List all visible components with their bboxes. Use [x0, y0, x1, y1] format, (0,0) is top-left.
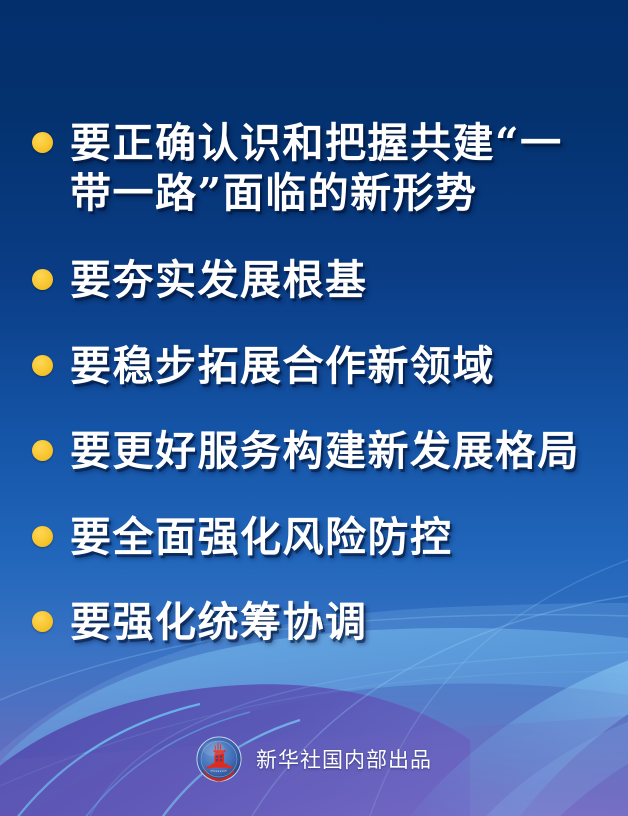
bullet-item-1: 要正确认识和把握共建“一 带一路”面临的新形势 — [32, 118, 563, 218]
bullet-item-4: 要更好服务构建新发展格局 — [32, 426, 580, 476]
bullet-dot-icon — [32, 355, 53, 376]
decor-swoop-left — [0, 628, 628, 816]
bullet-text-5: 要全面强化风险防控 — [70, 512, 453, 562]
bullet-item-5: 要全面强化风险防控 — [32, 512, 453, 562]
bullet-dot-icon — [32, 611, 53, 632]
poster-canvas: 要正确认识和把握共建“一 带一路”面临的新形势 要夯实发展根基 要稳步拓展合作新… — [0, 0, 628, 816]
footer: 新华社国内部出品 — [0, 736, 628, 782]
bullet-text-4: 要更好服务构建新发展格局 — [70, 426, 580, 476]
bullet-text-3: 要稳步拓展合作新领域 — [70, 341, 495, 391]
bullet-dot-icon — [32, 440, 53, 461]
bullet-item-6: 要强化统筹协调 — [32, 597, 368, 647]
bullet-item-3: 要稳步拓展合作新领域 — [32, 341, 495, 391]
bullet-text-6: 要强化统筹协调 — [70, 597, 368, 647]
bullet-text-1: 要正确认识和把握共建“一 带一路”面临的新形势 — [70, 118, 563, 218]
bullet-dot-icon — [32, 269, 53, 290]
bullet-dot-icon — [32, 132, 53, 153]
bullet-text-2: 要夯实发展根基 — [70, 255, 368, 305]
decor-arc-4 — [90, 652, 628, 816]
xinhua-news-agency-logo-icon — [196, 736, 242, 782]
footer-label: 新华社国内部出品 — [256, 744, 432, 774]
bullet-dot-icon — [32, 526, 53, 547]
bullet-item-2: 要夯实发展根基 — [32, 255, 368, 305]
decor-swoop-right — [410, 640, 628, 816]
